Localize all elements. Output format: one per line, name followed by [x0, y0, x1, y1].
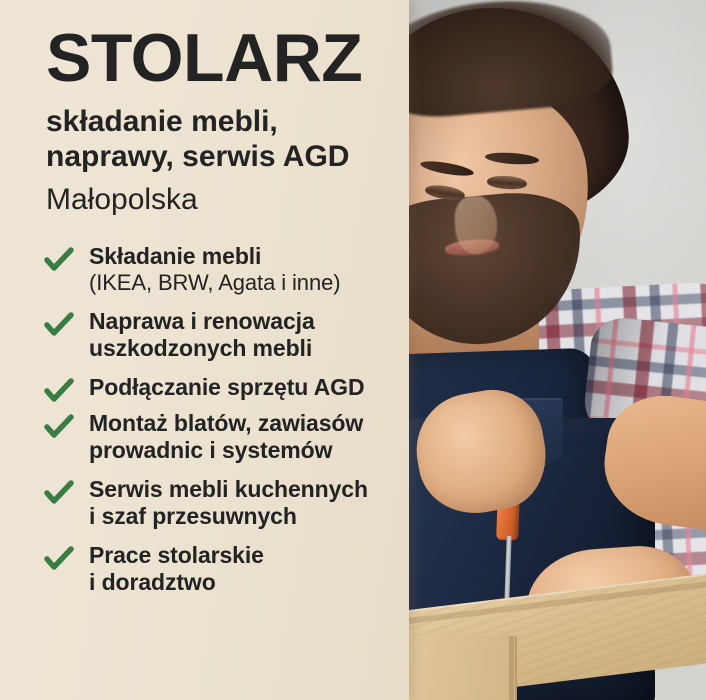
list-item-label: Składanie mebli — [89, 243, 416, 270]
subtitle: składanie mebli, naprawy, serwis AGD — [46, 104, 349, 174]
carpenter-photo — [409, 0, 706, 700]
check-icon — [44, 312, 74, 338]
services-list: Składanie mebli (IKEA, BRW, Agata i inne… — [44, 243, 416, 608]
check-icon — [44, 414, 74, 440]
list-item-sublabel: (IKEA, BRW, Agata i inne) — [89, 270, 416, 296]
check-icon — [44, 378, 74, 404]
check-icon — [44, 247, 74, 273]
wood-panel-front — [409, 636, 517, 700]
list-item-label: Serwis mebli kuchennych i szaf przesuwny… — [89, 476, 416, 530]
list-item-label: Montaż blatów, zawiasów prowadnic i syst… — [89, 410, 416, 464]
page-title: STOLARZ — [46, 24, 362, 92]
list-item: Montaż blatów, zawiasów prowadnic i syst… — [44, 410, 416, 464]
list-item: Podłączanie sprzętu AGD — [44, 374, 416, 401]
poster: STOLARZ składanie mebli, naprawy, serwis… — [0, 0, 706, 700]
list-item-label: Prace stolarskie i doradztwo — [89, 542, 416, 596]
list-item: Składanie mebli (IKEA, BRW, Agata i inne… — [44, 243, 416, 296]
wood-panel-seam — [509, 636, 514, 700]
list-item: Serwis mebli kuchennych i szaf przesuwny… — [44, 476, 416, 530]
region-label: Małopolska — [46, 182, 198, 217]
check-icon — [44, 546, 74, 572]
list-item: Naprawa i renowacja uszkodzonych mebli — [44, 308, 416, 362]
list-item-label: Podłączanie sprzętu AGD — [89, 374, 416, 401]
text-panel: STOLARZ składanie mebli, naprawy, serwis… — [0, 0, 409, 700]
check-icon — [44, 480, 74, 506]
list-item: Prace stolarskie i doradztwo — [44, 542, 416, 596]
list-item-label: Naprawa i renowacja uszkodzonych mebli — [89, 308, 416, 362]
